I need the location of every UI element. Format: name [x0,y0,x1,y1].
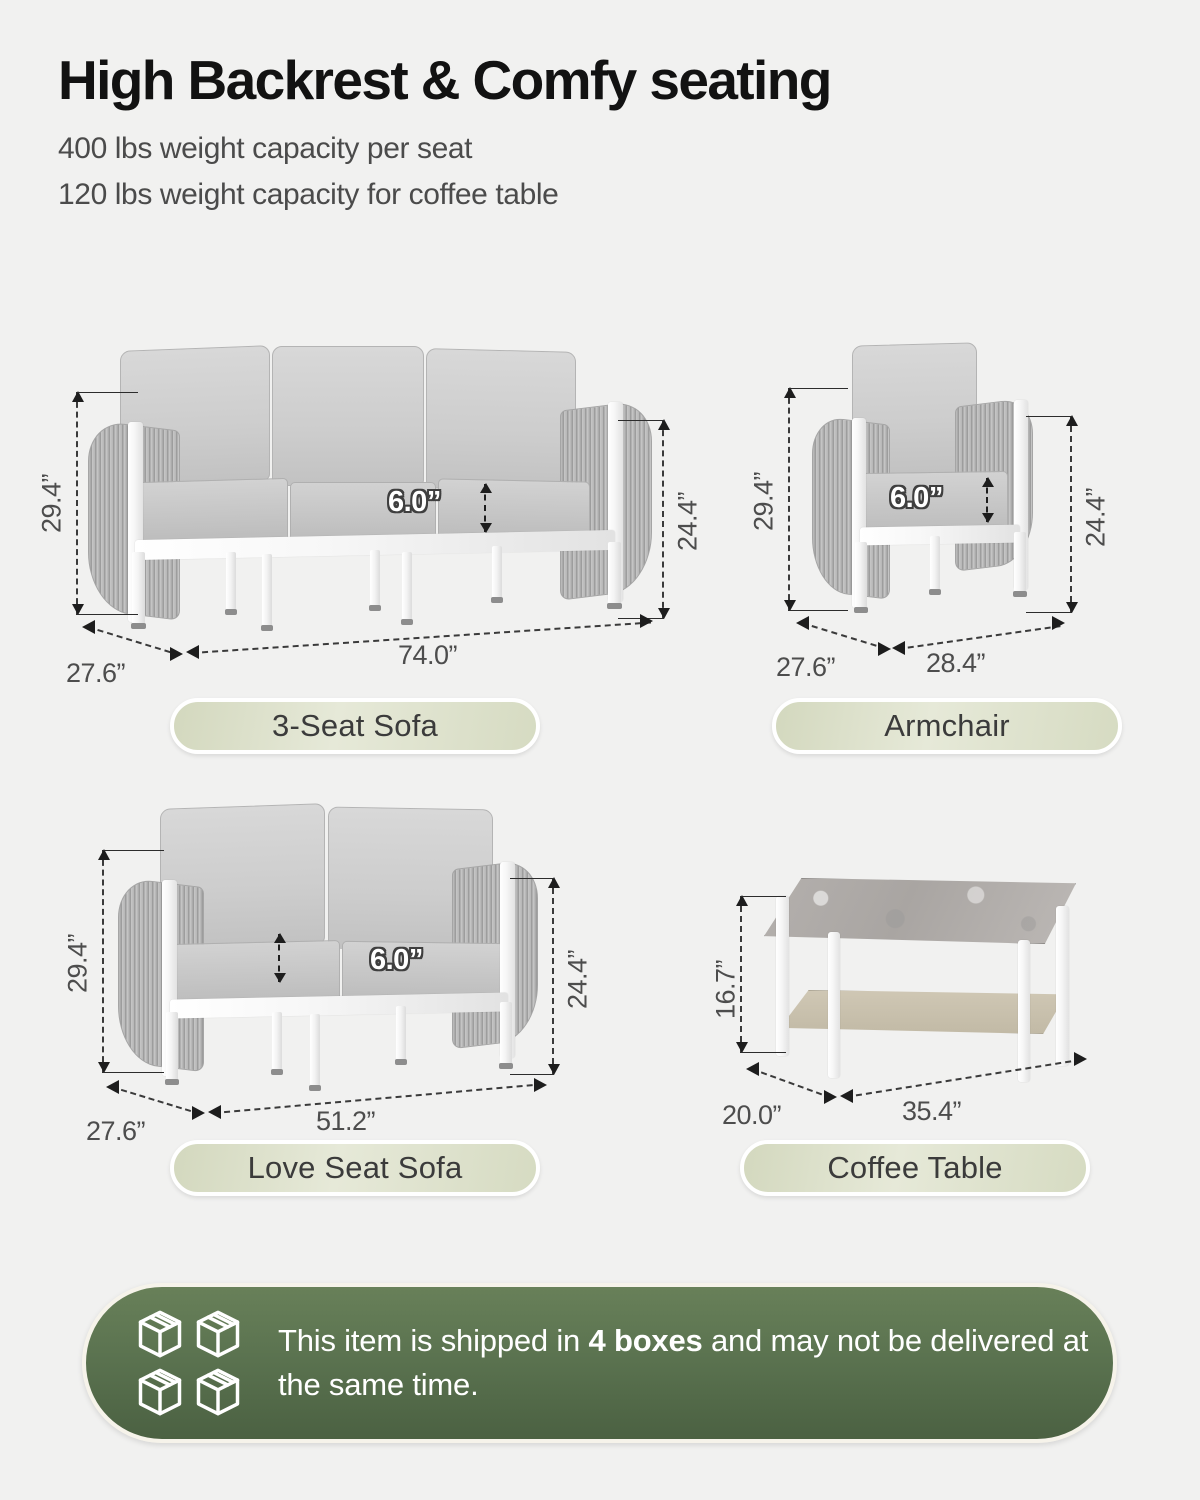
table-leg [828,932,840,1078]
callout-arrow [278,934,280,982]
table-top-surface [764,878,1076,944]
dimension-label-height-arm: 24.4” [673,462,704,582]
product-label-armchair: Armchair [772,698,1122,754]
dimension-arrow [892,641,905,655]
dimension-label-height-back: 29.4” [63,904,94,1024]
dimension-label-depth: 27.6” [66,658,125,689]
dimension-arrow [746,1062,759,1076]
dimension-arrow [192,1106,205,1120]
dimension-arrow [82,620,95,634]
dimension-line-height-arm [1070,416,1072,612]
header-block: High Backrest & Comfy seating 400 lbs we… [58,52,1158,219]
callout-text: 6.0” [388,486,441,519]
dimension-arrow [170,647,183,661]
dimension-tick [1026,612,1072,613]
seat-cushion [136,478,288,544]
dimension-label-height-back: 29.4” [749,442,780,562]
dimension-tick [740,896,786,897]
dimension-tick [788,610,848,611]
leg [396,1006,406,1060]
leg [855,542,867,608]
dimension-tick [740,1052,786,1053]
package-box-icon [192,1308,244,1360]
callout-arrow [986,478,988,522]
leg [1014,532,1026,592]
package-box-icon [134,1366,186,1418]
capacity-line-table: 120 lbs weight capacity for coffee table [58,172,1158,219]
dimension-arrow [824,1090,837,1104]
table-leg [1018,940,1030,1082]
dimension-tick [102,850,164,851]
dimension-line-height-arm [552,878,554,1074]
dimension-label-depth: 20.0” [722,1100,781,1131]
package-box-icon [134,1308,186,1360]
sofa-illustration [40,330,700,750]
shipping-text-before: This item is shipped in [278,1323,589,1358]
leg [500,1002,512,1064]
leg [370,550,380,606]
table-leg [776,896,789,1056]
leg [608,542,621,604]
diagram-armchair: 29.4” 24.4” 6.0” 27.6” 28.4” [740,330,1160,750]
shipping-box-count: 4 boxes [589,1323,703,1358]
dimension-line-height-back [76,392,78,614]
back-cushion [426,348,576,492]
dimension-arrow [796,616,809,630]
page-title: High Backrest & Comfy seating [58,52,1158,110]
leg [166,1012,178,1080]
dimension-arrow [840,1089,853,1103]
dimension-line-height-back [788,388,790,610]
back-cushion [272,346,424,486]
dimension-label-width: 74.0” [398,640,457,671]
frame-rail-front [860,525,1020,546]
leg [402,552,412,620]
dimension-label-height: 16.7” [711,930,742,1050]
dimension-label-height-arm: 24.4” [563,920,594,1040]
dimension-label-height-back: 29.4” [37,444,68,564]
product-label-3-seat-sofa: 3-Seat Sofa [170,698,540,754]
shipping-message: This item is shipped in 4 boxes and may … [278,1319,1113,1407]
leg [930,536,940,590]
dimension-arrow [106,1080,119,1094]
product-label-coffee-table: Coffee Table [740,1140,1090,1196]
dimension-tick [618,420,664,421]
dimension-label-width: 51.2” [316,1106,375,1137]
dimension-line-height-back [102,850,104,1072]
dimension-arrow [640,614,653,628]
leg [272,1012,282,1070]
dimension-arrow [1074,1052,1087,1066]
callout-arrow [484,484,486,532]
diagram-3-seat-sofa: 29.4” 24.4” 6.0” 27.6” 74.0” [40,330,700,750]
callout-text: 6.0” [890,482,943,515]
dimension-arrow [1052,616,1065,630]
dimension-tick [76,614,138,615]
dimension-tick [102,1072,164,1073]
product-label-love-seat: Love Seat Sofa [170,1140,540,1196]
table-leg [1056,906,1069,1066]
dimension-label-depth: 27.6” [86,1116,145,1147]
dimension-label-width: 28.4” [926,648,985,679]
dimension-tick [510,1074,554,1075]
dimension-tick [788,388,848,389]
dimension-arrow [208,1105,221,1119]
dimension-arrow [534,1078,547,1092]
dimension-tick [1026,416,1072,417]
dimension-arrow [186,645,199,659]
leg [226,552,236,610]
dimension-line-height-arm [662,420,664,618]
leg [310,1014,320,1086]
dimension-label-width: 35.4” [902,1096,961,1127]
dimension-arrow [878,642,891,656]
dimension-tick [510,878,554,879]
shipping-info-banner: This item is shipped in 4 boxes and may … [82,1283,1117,1443]
package-box-icon [192,1366,244,1418]
dimension-label-depth: 27.6” [776,652,835,683]
dimension-tick [76,392,138,393]
callout-text: 6.0” [370,944,423,977]
dimension-label-height-arm: 24.4” [1081,458,1112,578]
capacity-line-seat: 400 lbs weight capacity per seat [58,126,1158,173]
leg [492,546,502,598]
box-icon-group [134,1308,244,1418]
leg [262,554,272,626]
